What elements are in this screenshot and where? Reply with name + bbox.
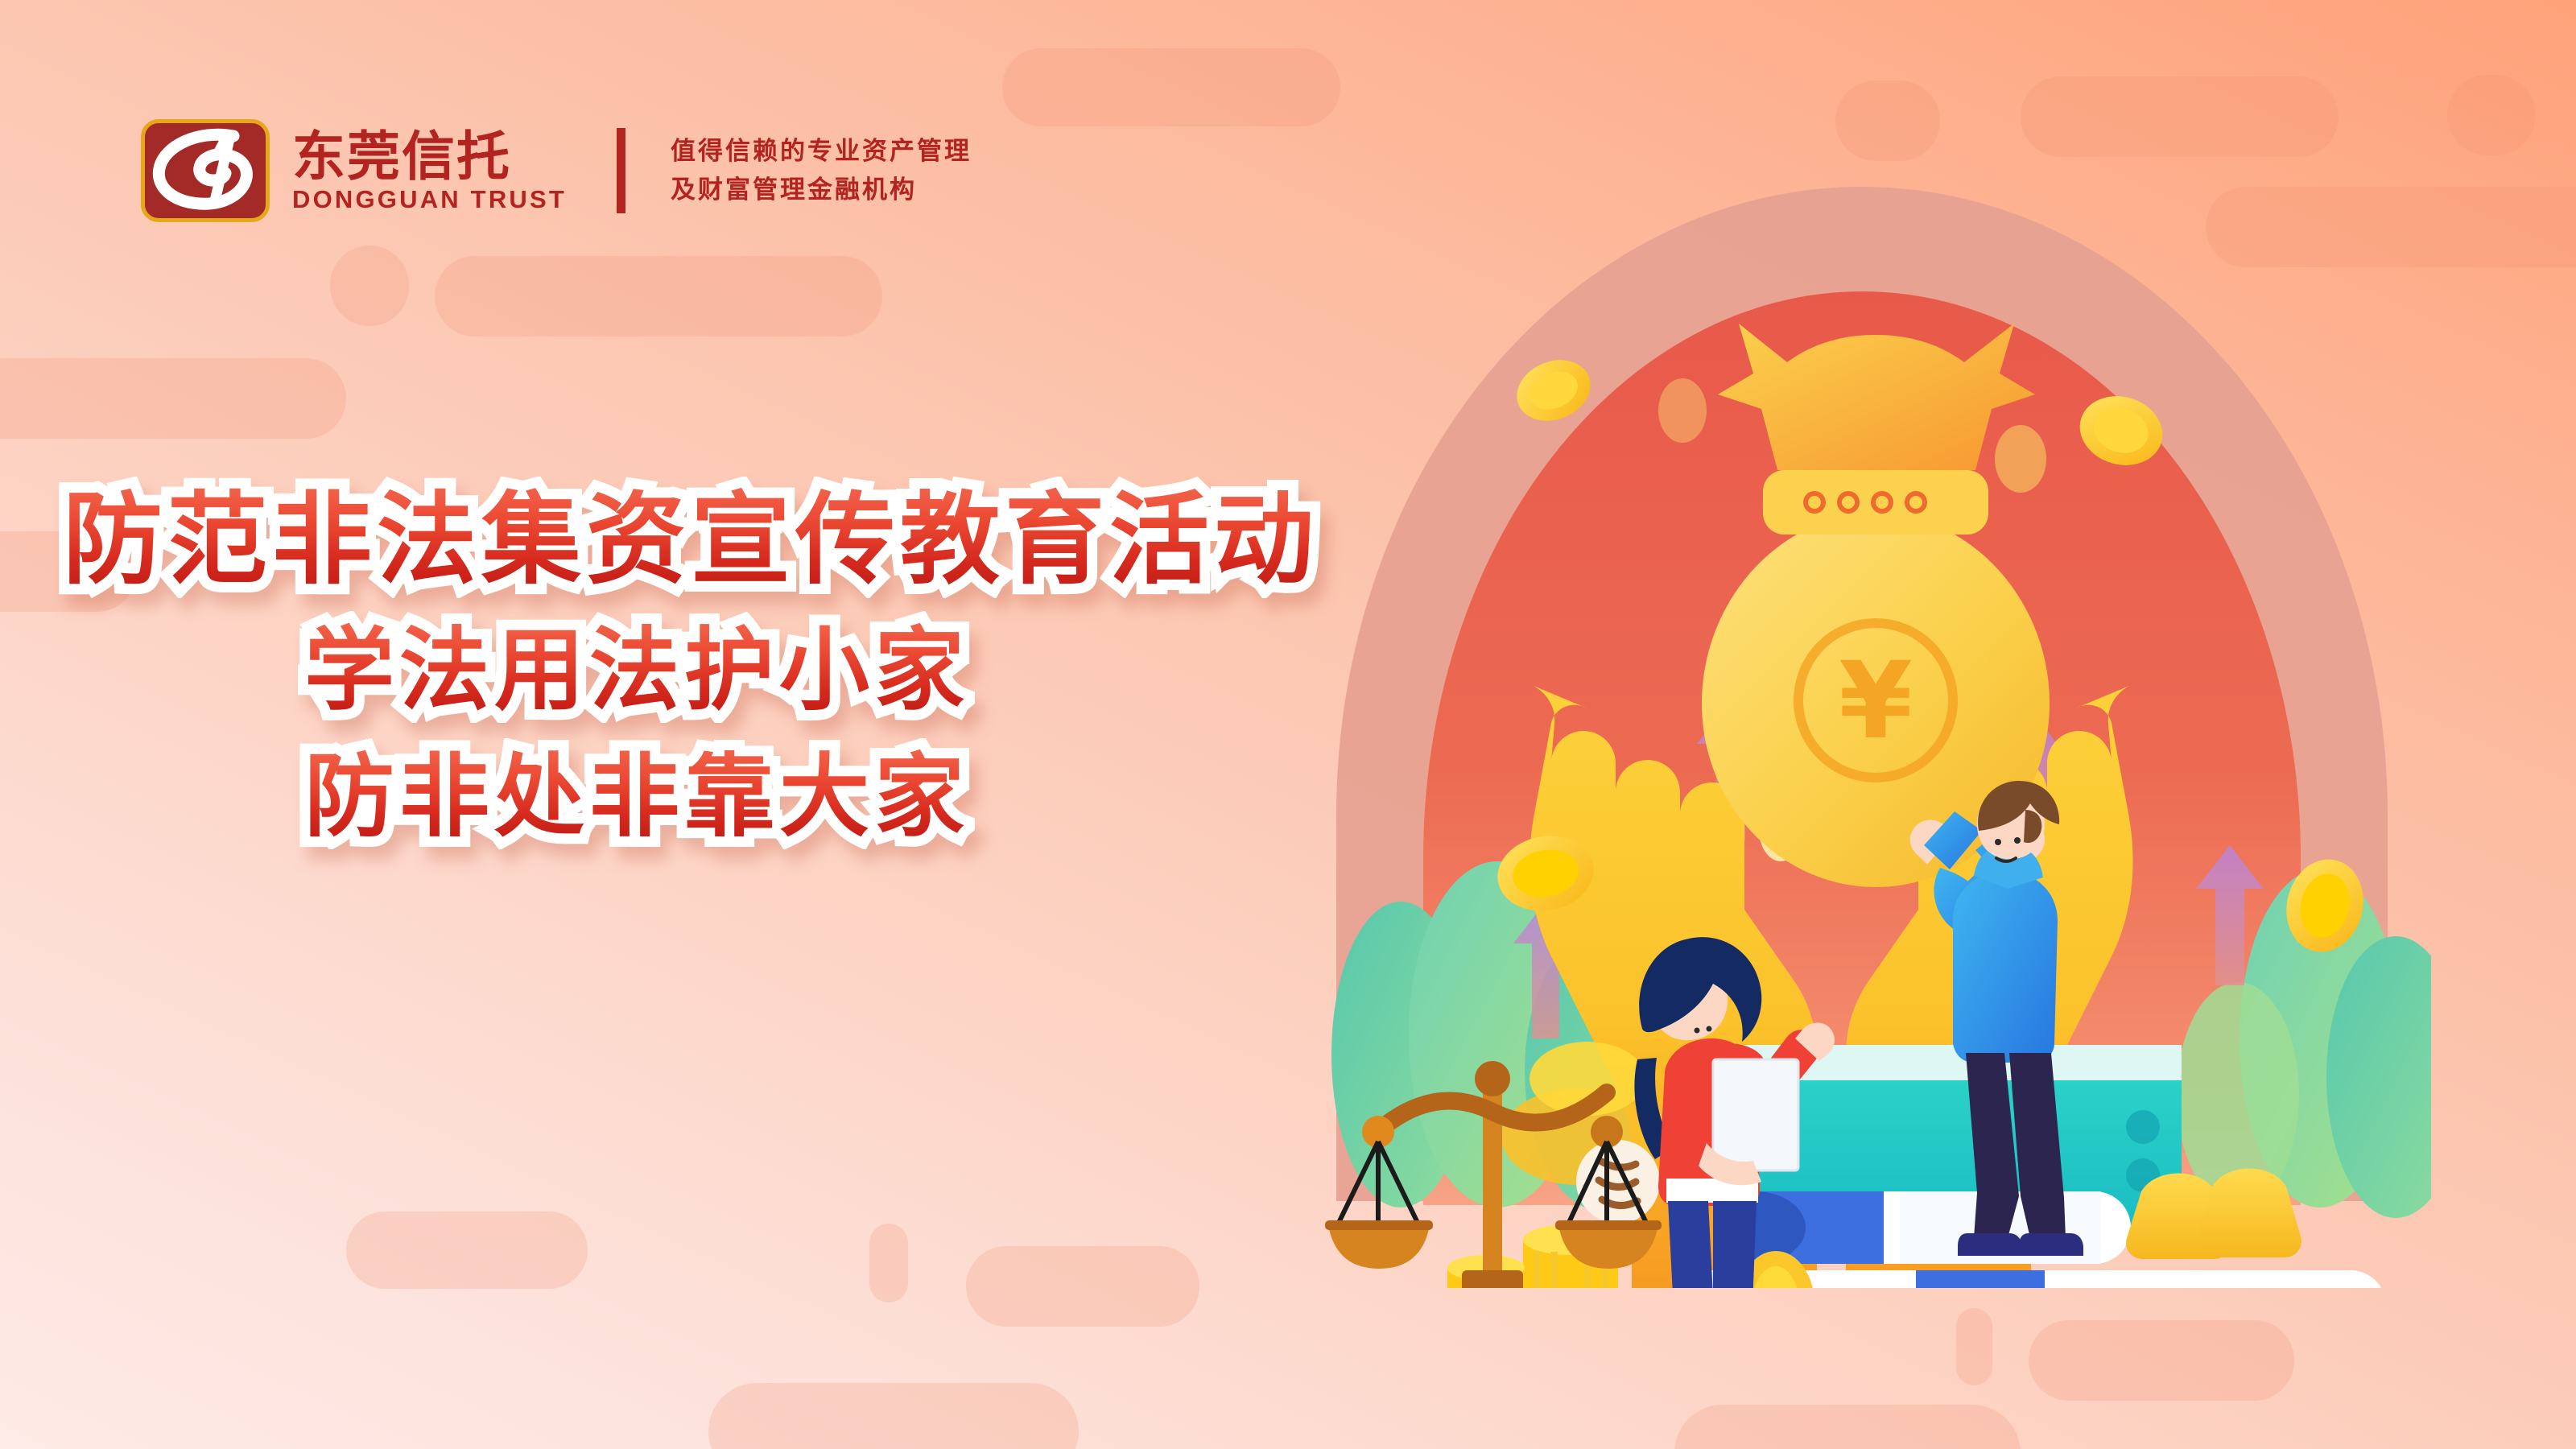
decor-pill — [708, 1383, 1079, 1449]
headline-line-2-fill: 学法用法护小家 — [304, 622, 969, 720]
headline-line-1: 防范非法集资宣传教育活动 防范非法集资宣传教育活动 — [63, 487, 1368, 595]
tagline-line-2: 及财富管理金融机构 — [671, 178, 972, 203]
decor-pill — [0, 358, 346, 439]
brand-tagline: 值得信赖的专业资产管理 及财富管理金融机构 — [671, 139, 972, 203]
anti-illegal-fundraising-illustration: ¥ — [1304, 145, 2431, 1288]
brand-divider — [617, 128, 625, 213]
headline-line-3-fill: 防非处非靠大家 — [304, 749, 969, 846]
decor-pill — [1674, 1405, 2021, 1449]
brand-logo-block[interactable]: 东莞信托 DONGGUAN TRUST 值得信赖的专业资产管理 及财富管理金融机… — [141, 119, 972, 222]
svg-text:¥: ¥ — [1839, 639, 1913, 763]
headline-line-2: 学法用法护小家 学法用法护小家 — [304, 622, 1368, 720]
brand-name-cn: 东莞信托 — [292, 130, 567, 184]
decor-pill — [2447, 75, 2536, 155]
decor-pill — [966, 1246, 1199, 1327]
decor-pill — [2029, 1320, 2294, 1401]
decor-pill — [869, 1224, 908, 1302]
decor-pill — [1956, 1308, 1992, 1385]
tagline-line-1: 值得信赖的专业资产管理 — [671, 139, 972, 164]
dongguan-trust-swoosh-icon — [141, 119, 270, 222]
poster-canvas: ¥ — [0, 0, 2576, 1449]
brand-name-en: DONGGUAN TRUST — [292, 187, 567, 212]
decor-pill — [1002, 48, 1340, 126]
headline-block: 防范非法集资宣传教育活动 防范非法集资宣传教育活动 学法用法护小家 学法用法护小… — [0, 487, 1368, 846]
headline-line-1-fill: 防范非法集资宣传教育活动 — [63, 487, 1319, 595]
decor-pill — [330, 246, 409, 326]
brand-wordmark: 东莞信托 DONGGUAN TRUST — [292, 130, 567, 212]
decor-pill — [346, 1212, 588, 1289]
headline-line-3: 防非处非靠大家 防非处非靠大家 — [304, 749, 1368, 846]
decor-pill — [435, 256, 882, 336]
